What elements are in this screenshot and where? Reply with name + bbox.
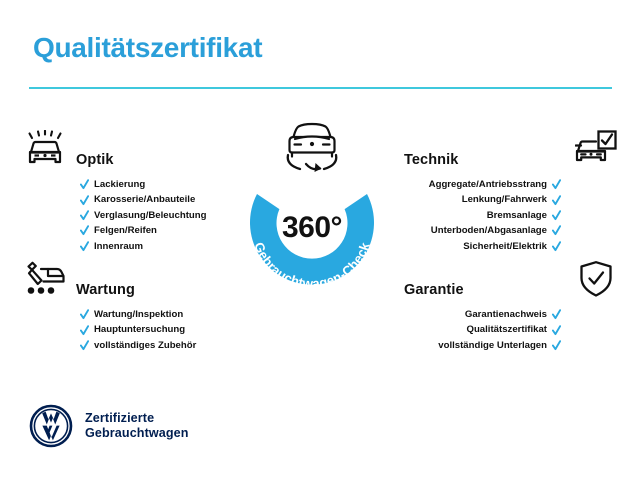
list-item-label: vollständige Unterlagen: [438, 338, 547, 353]
check-icon: [80, 340, 89, 351]
list-item-label: Wartung/Inspektion: [94, 307, 183, 322]
list-item: Garantienachweis: [404, 307, 561, 322]
check-list-optik: Lackierung Karosserie/Anbauteile Verglas…: [22, 177, 237, 254]
check-icon: [552, 225, 561, 236]
section-head-text-wartung: Wartung: [76, 281, 237, 300]
list-item: Hauptuntersuchung: [80, 322, 237, 337]
section-header-technik: Technik: [404, 128, 619, 170]
list-item-label: Karosserie/Anbauteile: [94, 192, 195, 207]
car-rotate-icon: [276, 117, 348, 177]
list-item: Innenraum: [80, 239, 237, 254]
section-title-wartung: Wartung: [76, 282, 135, 298]
list-item: Karosserie/Anbauteile: [80, 192, 237, 207]
check-icon: [80, 195, 89, 206]
check-icon: [552, 210, 561, 221]
footer-text: Zertifizierte Gebrauchtwagen: [85, 411, 189, 441]
section-head-text-technik: Technik: [404, 151, 565, 170]
section-header-optik: Optik: [22, 128, 237, 170]
section-head-text-garantie: Garantie: [404, 281, 565, 300]
page-title: Qualitätszertifikat: [33, 32, 262, 64]
car-shine-icon: [22, 128, 68, 170]
list-item: Sicherheit/Elektrik: [404, 239, 561, 254]
section-optik: Optik Lackierung Karosserie/Anbauteile V…: [22, 128, 237, 254]
list-item: Felgen/Reifen: [80, 223, 237, 238]
list-item-label: Verglasung/Beleuchtung: [94, 208, 206, 223]
wrench-car-icon: [22, 258, 68, 300]
check-icon: [552, 195, 561, 206]
check-icon: [552, 340, 561, 351]
check-icon: [80, 241, 89, 252]
car-checkbox-icon: [573, 128, 619, 170]
list-item-label: Qualitätszertifikat: [466, 322, 547, 337]
check-icon: [80, 325, 89, 336]
list-item: Lackierung: [80, 177, 237, 192]
check-icon: [552, 179, 561, 190]
section-garantie: Garantie Garantienachweis Qualitätszerti…: [404, 258, 619, 353]
section-title-garantie: Garantie: [404, 282, 464, 298]
list-item-label: Bremsanlage: [487, 208, 547, 223]
list-item: Qualitätszertifikat: [404, 322, 561, 337]
list-item-label: Aggregate/Antriebsstrang: [429, 177, 547, 192]
footer-brand: Zertifizierte Gebrauchtwagen: [29, 404, 189, 448]
check-icon: [552, 309, 561, 320]
list-item: Lenkung/Fahrwerk: [404, 192, 561, 207]
list-item: vollständiges Zubehör: [80, 338, 237, 353]
title-divider: [29, 87, 612, 89]
check-icon: [80, 225, 89, 236]
section-technik: Technik Aggregate/Antriebsstrang Lenkung…: [404, 128, 619, 254]
list-item-label: Innenraum: [94, 239, 143, 254]
check-icon: [80, 309, 89, 320]
list-item-label: Garantienachweis: [465, 307, 547, 322]
section-title-optik: Optik: [76, 152, 114, 168]
list-item-label: Unterboden/Abgasanlage: [431, 223, 547, 238]
shield-check-icon: [573, 258, 619, 300]
check-list-garantie: Garantienachweis Qualitätszertifikat vol…: [404, 307, 619, 353]
list-item-label: Hauptuntersuchung: [94, 322, 185, 337]
section-head-text-optik: Optik: [76, 151, 237, 170]
list-item-label: Sicherheit/Elektrik: [463, 239, 547, 254]
list-item-label: Lenkung/Fahrwerk: [462, 192, 547, 207]
section-title-technik: Technik: [404, 152, 458, 168]
footer-line-2: Gebrauchtwagen: [85, 426, 189, 440]
certificate-page: Qualitätszertifikat: [0, 0, 640, 480]
list-item-label: Felgen/Reifen: [94, 223, 157, 238]
list-item-label: vollständiges Zubehör: [94, 338, 196, 353]
list-item: Unterboden/Abgasanlage: [404, 223, 561, 238]
list-item: Aggregate/Antriebsstrang: [404, 177, 561, 192]
footer-line-1: Zertifizierte: [85, 411, 154, 425]
section-wartung: Wartung Wartung/Inspektion Hauptuntersuc…: [22, 258, 237, 353]
vw-logo: [29, 404, 73, 448]
list-item: Bremsanlage: [404, 208, 561, 223]
list-item-label: Lackierung: [94, 177, 145, 192]
check-icon: [552, 241, 561, 252]
list-item: vollständige Unterlagen: [404, 338, 561, 353]
section-header-garantie: Garantie: [404, 258, 619, 300]
list-item: Wartung/Inspektion: [80, 307, 237, 322]
section-header-wartung: Wartung: [22, 258, 237, 300]
check-icon: [80, 210, 89, 221]
list-item: Verglasung/Beleuchtung: [80, 208, 237, 223]
check-list-technik: Aggregate/Antriebsstrang Lenkung/Fahrwer…: [404, 177, 619, 254]
check-icon: [80, 179, 89, 190]
check-icon: [552, 325, 561, 336]
check-list-wartung: Wartung/Inspektion Hauptuntersuchung vol…: [22, 307, 237, 353]
